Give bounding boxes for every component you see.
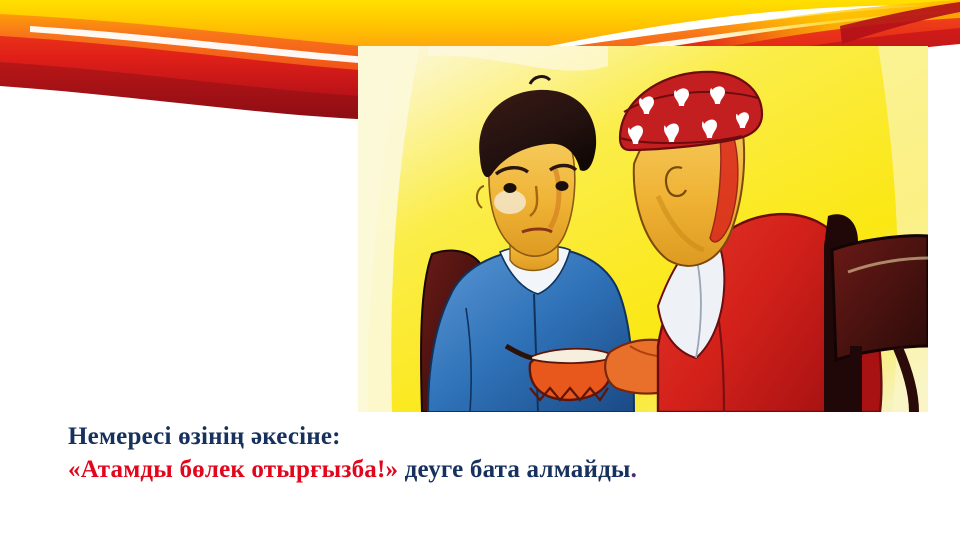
caption-period: . xyxy=(631,456,637,483)
ribbon-accent-right-yellow xyxy=(700,0,960,52)
caption-line-1: Немересі өзінің әкесіне: xyxy=(68,420,898,453)
caption-rest: деуге бата алмайды xyxy=(398,456,630,483)
boy-cheek-highlight xyxy=(494,190,526,214)
caption-block: Немересі өзінің әкесіне: «Атамды бөлек о… xyxy=(68,420,898,486)
caption-line-2: «Атамды бөлек отырғызба!» деуге бата алм… xyxy=(68,453,898,486)
caption-quote: «Атамды бөлек отырғызба!» xyxy=(68,456,398,483)
chair-back-right xyxy=(832,236,928,360)
slide-canvas: Немересі өзінің әкесіне: «Атамды бөлек о… xyxy=(0,0,960,540)
boy-eye-left xyxy=(504,183,517,193)
grandfather-and-grandson-illustration xyxy=(358,46,928,412)
ribbon-accent-right-dark xyxy=(840,2,960,44)
illustration-frame xyxy=(358,46,928,412)
boy-eye-right xyxy=(556,181,569,191)
